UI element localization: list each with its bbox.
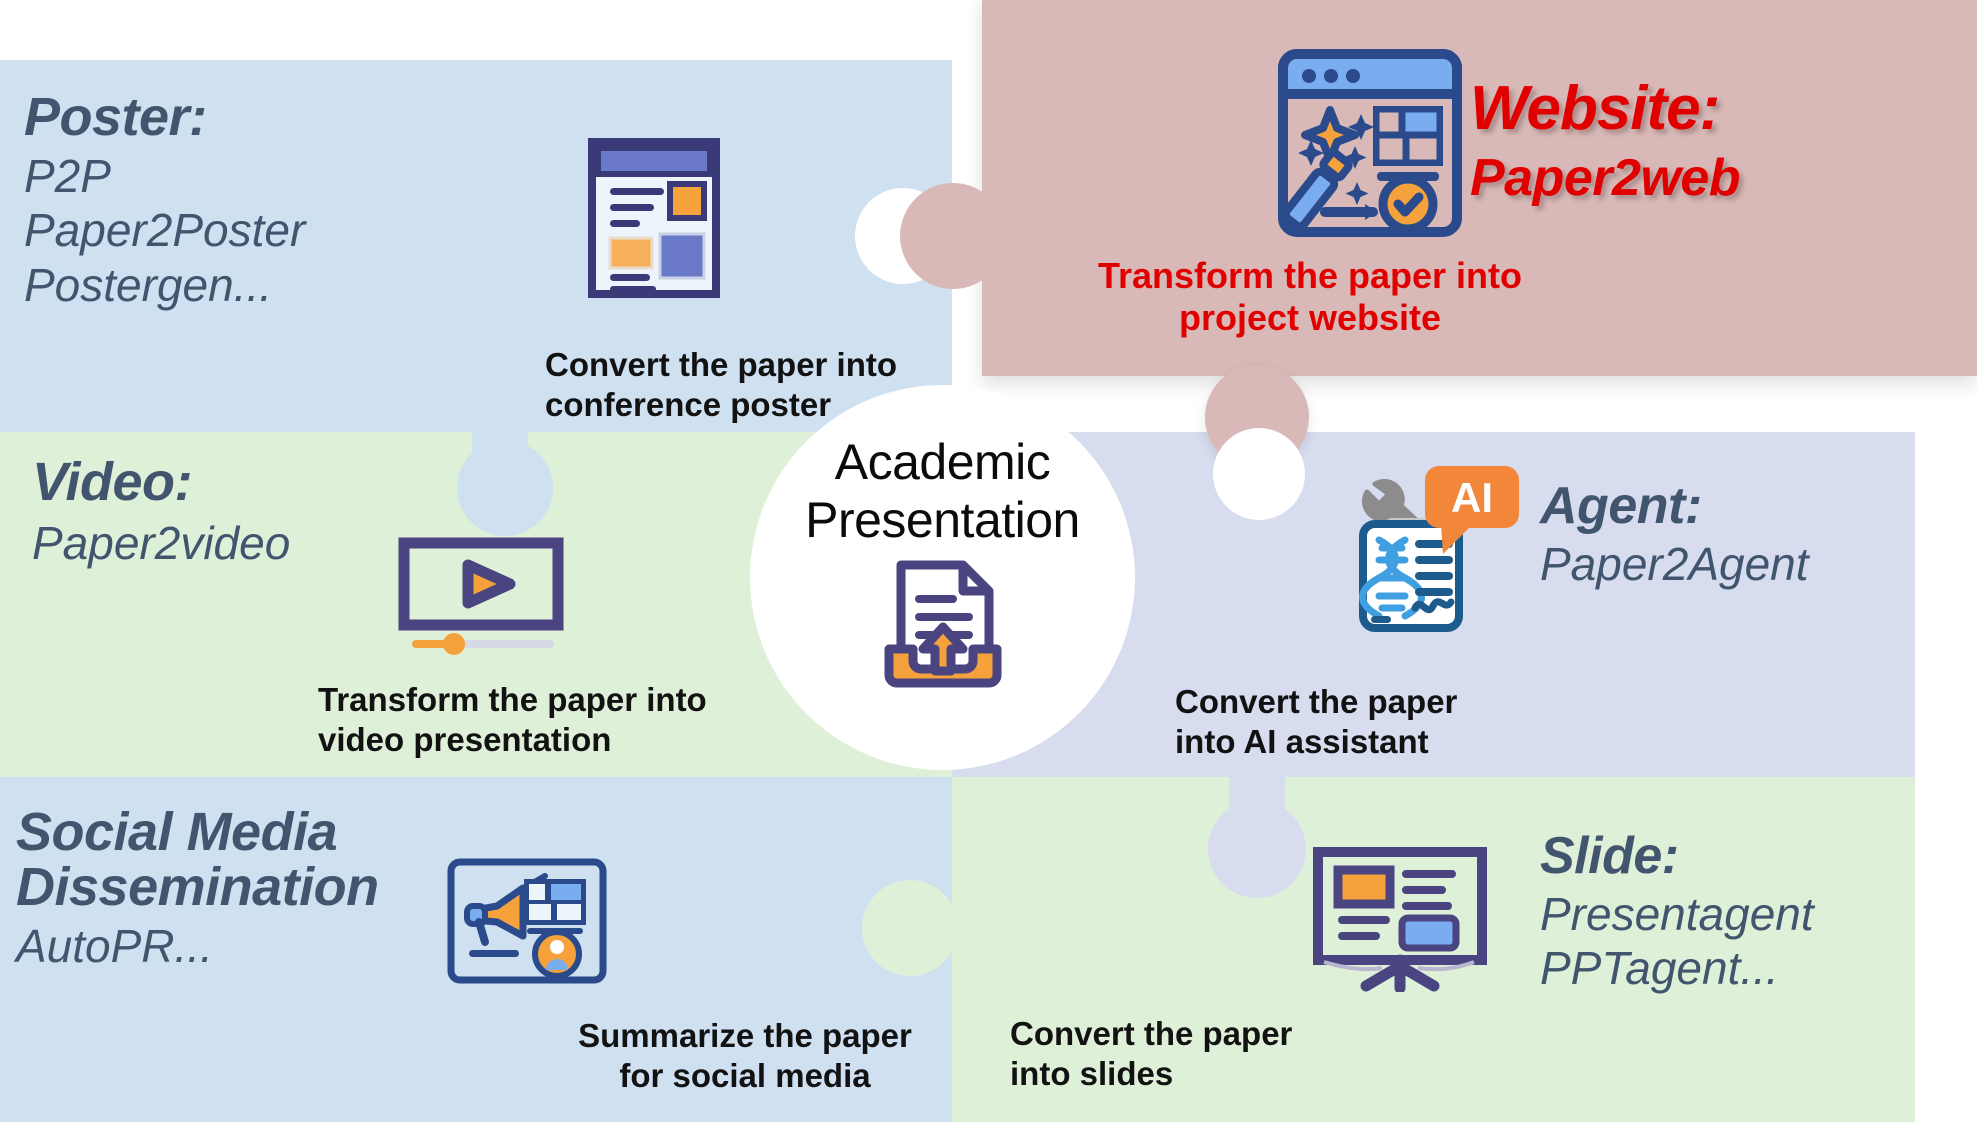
- social-heading-block: Social Media Dissemination AutoPR...: [16, 805, 379, 973]
- video-title: Video:: [32, 455, 290, 510]
- infographic-canvas: Poster: P2P Paper2Poster Postergen... Co…: [0, 0, 1977, 1122]
- slide-caption: Convert the paper into slides: [1010, 1014, 1292, 1093]
- website-subtitle: Paper2web: [1470, 152, 1740, 204]
- website-title: Website:: [1470, 78, 1740, 140]
- social-subtitle: AutoPR...: [16, 919, 379, 973]
- center-hub: Academic Presentation: [750, 385, 1135, 770]
- poster-title: Poster:: [24, 90, 305, 145]
- social-title: Social Media Dissemination: [16, 805, 379, 915]
- agent-caption: Convert the paper into AI assistant: [1175, 682, 1457, 761]
- poster-layout-icon: [588, 138, 720, 303]
- paper-upload-icon: [879, 557, 1007, 694]
- website-caption: Transform the paper into project website: [1060, 255, 1560, 340]
- presentation-board-icon: [1310, 846, 1490, 997]
- puzzle-notch-agent-top: [1213, 428, 1305, 520]
- clipboard-ai-icon: AI: [1349, 456, 1525, 637]
- slide-subtitle: Presentagent PPTagent...: [1540, 887, 1814, 996]
- puzzle-tab-slide-left: [862, 880, 958, 976]
- poster-subtitle: P2P Paper2Poster Postergen...: [24, 149, 305, 312]
- megaphone-social-icon: [447, 858, 607, 989]
- ai-badge-label: AI: [1451, 474, 1493, 521]
- website-heading-block: Website: Paper2web: [1470, 78, 1740, 204]
- social-caption: Summarize the paper for social media: [565, 1016, 925, 1095]
- agent-heading-block: Agent: Paper2Agent: [1540, 480, 1809, 591]
- agent-title: Agent:: [1540, 480, 1809, 533]
- slide-heading-block: Slide: Presentagent PPTagent...: [1540, 830, 1814, 996]
- agent-subtitle: Paper2Agent: [1540, 537, 1809, 591]
- page-title: Academic Presentation: [805, 433, 1080, 549]
- poster-heading-block: Poster: P2P Paper2Poster Postergen...: [24, 90, 305, 312]
- puzzle-tab-poster-down: [457, 440, 553, 536]
- video-player-icon: [398, 537, 564, 662]
- puzzle-tab-agent-down: [1208, 800, 1306, 898]
- video-heading-block: Video: Paper2video: [32, 455, 290, 570]
- browser-magic-icon: [1277, 48, 1463, 243]
- slide-title: Slide:: [1540, 830, 1814, 883]
- video-caption: Transform the paper into video presentat…: [318, 680, 707, 759]
- puzzle-tab-website-left: [900, 183, 1006, 289]
- video-subtitle: Paper2video: [32, 516, 290, 570]
